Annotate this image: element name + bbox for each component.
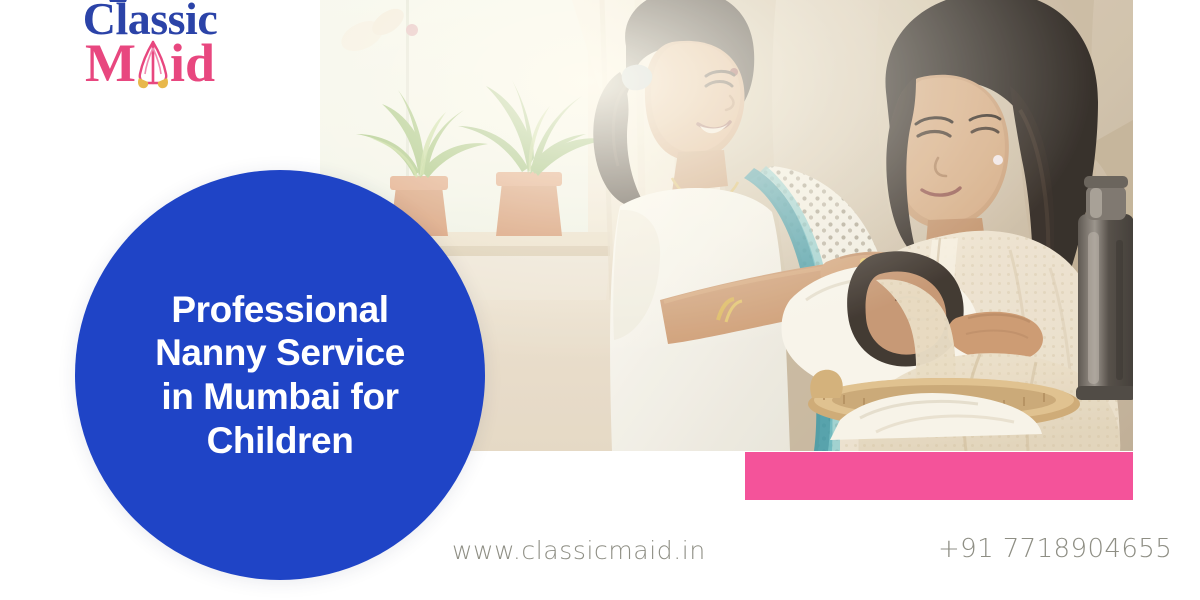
page-title: Professional Nanny Service in Mumbai for…	[115, 288, 445, 463]
hero-circle: Professional Nanny Service in Mumbai for…	[75, 170, 485, 580]
website-url[interactable]: www.classicmaid.in	[452, 536, 706, 565]
logo-maid-m: M	[85, 36, 136, 90]
namaste-glyph-shape	[135, 38, 171, 90]
promo-banner: Professional Nanny Service in Mumbai for…	[0, 0, 1200, 600]
logo-text-maid: M id	[0, 36, 300, 90]
logo-maid-id: id	[170, 36, 215, 90]
namaste-praying-hands-icon	[135, 38, 171, 90]
brand-logo[interactable]: Classic M id	[0, 0, 300, 107]
phone-number[interactable]: +91 7718904655	[938, 534, 1172, 564]
pink-accent-bar	[745, 452, 1133, 500]
